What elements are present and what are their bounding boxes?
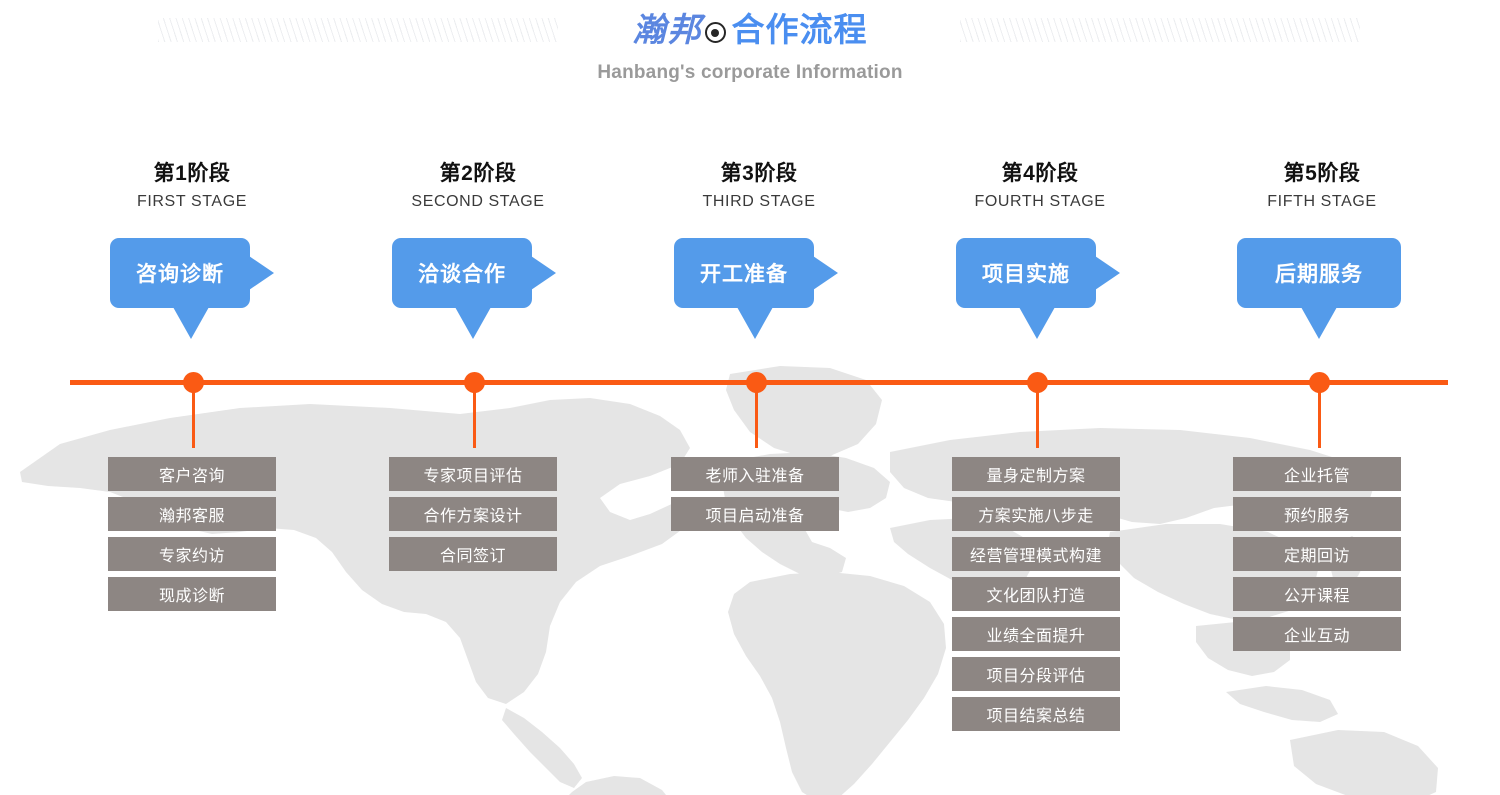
stage-bubble-tail-4 (1019, 307, 1055, 339)
stage-title-en-3: THIRD STAGE (663, 190, 855, 214)
stage-bubble-tail-3 (737, 307, 773, 339)
list-item[interactable]: 企业互动 (1233, 617, 1401, 651)
page-title-cn: 合作流程 (732, 11, 868, 48)
list-item[interactable]: 瀚邦客服 (108, 497, 276, 531)
stage-bubble-4[interactable]: 项目实施 (956, 238, 1096, 308)
stage-title-en-2: SECOND STAGE (382, 190, 574, 214)
page-title: 瀚邦合作流程 (0, 8, 1500, 53)
stage-bubble-2[interactable]: 洽谈合作 (392, 238, 532, 308)
stage-title-en-1: FIRST STAGE (96, 190, 288, 214)
stage-bubble-wrap-1: 咨询诊断 (110, 238, 250, 308)
timeline-node-5[interactable] (1309, 372, 1330, 393)
list-item[interactable]: 业绩全面提升 (952, 617, 1120, 651)
connector-line-1 (192, 384, 195, 448)
stage-items-1: 客户咨询 瀚邦客服 专家约访 现成诊断 (108, 457, 276, 611)
list-item[interactable]: 量身定制方案 (952, 457, 1120, 491)
timeline-node-2[interactable] (464, 372, 485, 393)
list-item[interactable]: 预约服务 (1233, 497, 1401, 531)
target-circle-icon (705, 22, 726, 43)
stage-heading-4: 第4阶段 FOURTH STAGE (944, 160, 1136, 214)
stage-column-5: 第5阶段 FIFTH STAGE (1226, 160, 1418, 214)
stage-column-1: 第1阶段 FIRST STAGE (96, 160, 288, 214)
timeline-node-1[interactable] (183, 372, 204, 393)
list-item[interactable]: 定期回访 (1233, 537, 1401, 571)
list-item[interactable]: 专家约访 (108, 537, 276, 571)
list-item[interactable]: 项目分段评估 (952, 657, 1120, 691)
list-item[interactable]: 企业托管 (1233, 457, 1401, 491)
stage-title-cn-4: 第4阶段 (944, 160, 1136, 188)
page-subtitle: Hanbang's corporate Information (0, 61, 1500, 85)
list-item[interactable]: 公开课程 (1233, 577, 1401, 611)
stage-title-en-5: FIFTH STAGE (1226, 190, 1418, 214)
list-item[interactable]: 项目结案总结 (952, 697, 1120, 731)
list-item[interactable]: 项目启动准备 (671, 497, 839, 531)
stage-heading-5: 第5阶段 FIFTH STAGE (1226, 160, 1418, 214)
connector-line-5 (1318, 384, 1321, 448)
stage-items-4: 量身定制方案 方案实施八步走 经营管理模式构建 文化团队打造 业绩全面提升 项目… (952, 457, 1120, 731)
stage-column-3: 第3阶段 THIRD STAGE (663, 160, 855, 214)
stage-bubble-wrap-3: 开工准备 (674, 238, 814, 308)
stage-bubble-wrap-4: 项目实施 (956, 238, 1096, 308)
stage-bubble-tail-5 (1301, 307, 1337, 339)
infographic-canvas: 瀚邦合作流程 Hanbang's corporate Information 第… (0, 0, 1500, 795)
stage-bubble-1[interactable]: 咨询诊断 (110, 238, 250, 308)
list-item[interactable]: 老师入驻准备 (671, 457, 839, 491)
stage-bubble-label-4: 项目实施 (982, 258, 1070, 288)
list-item[interactable]: 方案实施八步走 (952, 497, 1120, 531)
stage-heading-2: 第2阶段 SECOND STAGE (382, 160, 574, 214)
stage-title-cn-1: 第1阶段 (96, 160, 288, 188)
stage-title-cn-2: 第2阶段 (382, 160, 574, 188)
timeline-node-3[interactable] (746, 372, 767, 393)
brand-logo-script: 瀚邦 (633, 13, 703, 49)
stage-title-cn-3: 第3阶段 (663, 160, 855, 188)
stage-bubble-tail-1 (173, 307, 209, 339)
stage-heading-1: 第1阶段 FIRST STAGE (96, 160, 288, 214)
list-item[interactable]: 现成诊断 (108, 577, 276, 611)
list-item[interactable]: 文化团队打造 (952, 577, 1120, 611)
stage-bubble-3[interactable]: 开工准备 (674, 238, 814, 308)
list-item[interactable]: 专家项目评估 (389, 457, 557, 491)
stage-items-5: 企业托管 预约服务 定期回访 公开课程 企业互动 (1233, 457, 1401, 651)
stage-column-4: 第4阶段 FOURTH STAGE (944, 160, 1136, 214)
stage-column-2: 第2阶段 SECOND STAGE (382, 160, 574, 214)
stage-items-2: 专家项目评估 合作方案设计 合同签订 (389, 457, 557, 571)
list-item[interactable]: 经营管理模式构建 (952, 537, 1120, 571)
stage-bubble-wrap-5: 后期服务 (1237, 238, 1401, 308)
timeline-node-4[interactable] (1027, 372, 1048, 393)
stage-bubble-label-3: 开工准备 (700, 258, 788, 288)
list-item[interactable]: 合同签订 (389, 537, 557, 571)
list-item[interactable]: 客户咨询 (108, 457, 276, 491)
stage-bubble-wrap-2: 洽谈合作 (392, 238, 532, 308)
list-item[interactable]: 合作方案设计 (389, 497, 557, 531)
stage-title-en-4: FOURTH STAGE (944, 190, 1136, 214)
stage-items-3: 老师入驻准备 项目启动准备 (671, 457, 839, 531)
stage-bubble-label-2: 洽谈合作 (418, 258, 506, 288)
stage-bubble-label-5: 后期服务 (1275, 258, 1363, 288)
stage-bubble-5[interactable]: 后期服务 (1237, 238, 1401, 308)
connector-line-3 (755, 384, 758, 448)
page-header: 瀚邦合作流程 Hanbang's corporate Information (0, 8, 1500, 85)
connector-line-2 (473, 384, 476, 448)
connector-line-4 (1036, 384, 1039, 448)
stage-bubble-tail-2 (455, 307, 491, 339)
stage-heading-3: 第3阶段 THIRD STAGE (663, 160, 855, 214)
stage-title-cn-5: 第5阶段 (1226, 160, 1418, 188)
stage-bubble-label-1: 咨询诊断 (136, 258, 224, 288)
